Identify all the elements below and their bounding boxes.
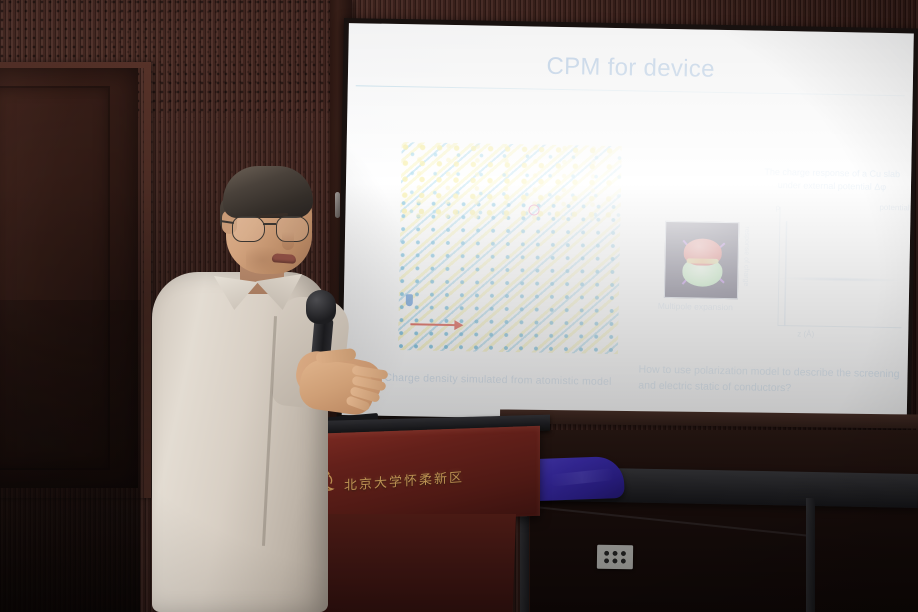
presentation-photo: CPM for device Charge density simulated …: [0, 0, 918, 612]
eyeglasses-icon: [232, 216, 314, 242]
lectern: 北京大学怀柔新区: [300, 418, 550, 612]
glasses-bridge: [263, 223, 276, 225]
lectern-engraved-text: 北京大学怀柔新区: [344, 466, 464, 493]
presenter-nose: [282, 232, 294, 250]
lectern-body: [322, 514, 516, 612]
microphone-icon[interactable]: [306, 290, 336, 324]
lectern-front-panel: 北京大学怀柔新区: [300, 426, 540, 524]
presenter-hair: [223, 166, 313, 218]
lens-left: [232, 216, 265, 242]
presenter-mouth: [272, 253, 297, 264]
